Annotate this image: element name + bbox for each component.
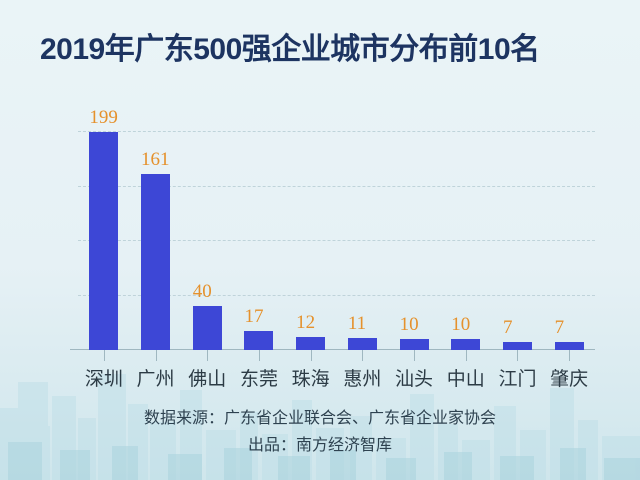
bar-value-label: 10 (451, 314, 470, 336)
x-axis-tick (466, 350, 467, 361)
bar-series: 199深圳161广州40佛山17东莞12珠海11惠州10汕头10中山7江门7肇庆 (78, 120, 595, 350)
bar-group[interactable]: 10汕头 (388, 120, 440, 350)
bar-value-label: 7 (503, 317, 513, 339)
x-axis-tick (311, 350, 312, 361)
bar-group[interactable]: 7江门 (492, 120, 544, 350)
bar-group[interactable]: 11惠州 (337, 120, 389, 350)
footer-producer-line: 出品：南方经济智库 (0, 432, 640, 459)
x-axis-category-label: 中山 (447, 364, 485, 391)
x-axis-category-label: 广州 (137, 364, 175, 391)
footer: 数据来源：广东省企业联合会、广东省企业家协会 出品：南方经济智库 (0, 405, 640, 459)
bar-value-label: 7 (555, 317, 565, 339)
plot-area: 050100150200 199深圳161广州40佛山17东莞12珠海11惠州1… (78, 120, 595, 350)
x-axis-category-label: 珠海 (292, 364, 330, 391)
bar[interactable]: 10 (451, 339, 480, 350)
bar-group[interactable]: 17东莞 (233, 120, 285, 350)
bar-value-label: 17 (244, 306, 263, 328)
bar-group[interactable]: 7肇庆 (543, 120, 595, 350)
x-axis-category-label: 东莞 (240, 364, 278, 391)
x-axis-tick (517, 350, 518, 361)
x-axis-tick (259, 350, 260, 361)
x-axis-category-label: 佛山 (188, 364, 226, 391)
x-axis-tick (156, 350, 157, 361)
bar-value-label: 12 (296, 312, 315, 334)
x-axis-tick (207, 350, 208, 361)
x-axis-tick (104, 350, 105, 361)
bar[interactable]: 10 (400, 339, 429, 350)
bar[interactable]: 199 (89, 132, 118, 350)
bar[interactable]: 7 (503, 342, 532, 350)
bar[interactable]: 7 (555, 342, 584, 350)
bar-value-label: 11 (348, 313, 366, 335)
x-axis-tick (414, 350, 415, 361)
x-axis-category-label: 江门 (498, 364, 536, 391)
bar-value-label: 40 (193, 281, 212, 303)
bar-group[interactable]: 199深圳 (78, 120, 130, 350)
bar-group[interactable]: 10中山 (440, 120, 492, 350)
bar-group[interactable]: 40佛山 (181, 120, 233, 350)
bar-value-label: 10 (400, 314, 419, 336)
bar-group[interactable]: 12珠海 (285, 120, 337, 350)
bar[interactable]: 11 (348, 338, 377, 350)
x-axis-category-label: 惠州 (343, 364, 381, 391)
bar[interactable]: 161 (141, 174, 170, 350)
x-axis-category-label: 汕头 (395, 364, 433, 391)
bar-group[interactable]: 161广州 (130, 120, 182, 350)
page-title: 2019年广东500强企业城市分布前10名 (40, 24, 540, 68)
bar[interactable]: 40 (193, 306, 222, 350)
bar-value-label: 199 (89, 107, 118, 129)
x-axis-tick (362, 350, 363, 361)
bar[interactable]: 17 (244, 331, 273, 350)
bar[interactable]: 12 (296, 337, 325, 350)
x-axis-category-label: 肇庆 (550, 364, 588, 391)
bar-value-label: 161 (141, 149, 170, 171)
footer-source-line: 数据来源：广东省企业联合会、广东省企业家协会 (0, 405, 640, 432)
bar-chart: 050100150200 199深圳161广州40佛山17东莞12珠海11惠州1… (0, 95, 640, 395)
x-axis-category-label: 深圳 (85, 364, 123, 391)
x-axis-tick (569, 350, 570, 361)
